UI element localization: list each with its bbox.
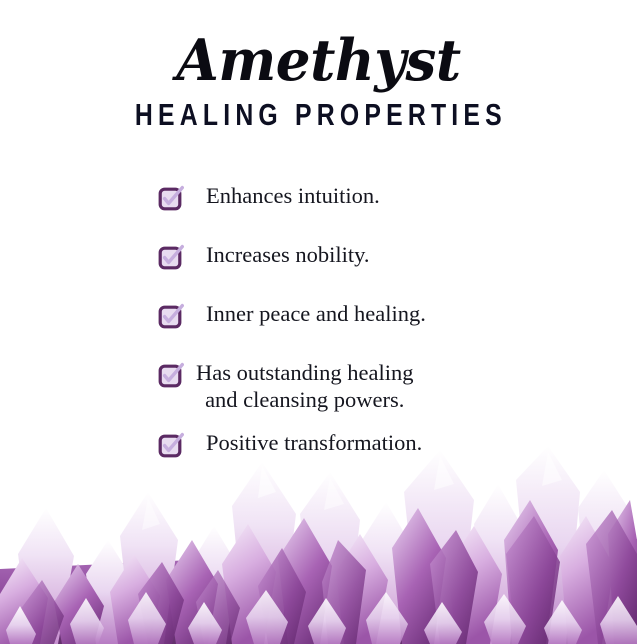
amethyst-crystal-cluster bbox=[0, 444, 637, 644]
list-item-label: Inner peace and healing. bbox=[206, 300, 426, 327]
checkbox-checked-icon bbox=[158, 185, 184, 211]
list-item-label: Enhances intuition. bbox=[206, 182, 380, 209]
list-item: Has outstanding healing and cleansing po… bbox=[158, 359, 578, 413]
checkbox-checked-icon bbox=[158, 362, 184, 388]
list-item: Inner peace and healing. bbox=[158, 300, 578, 329]
checkbox-checked-icon bbox=[158, 303, 184, 329]
header: Amethyst HEALING PROPERTIES bbox=[0, 0, 637, 132]
checkbox-checked-icon bbox=[158, 244, 184, 270]
list-item: Enhances intuition. bbox=[158, 182, 578, 211]
poster-canvas: Amethyst HEALING PROPERTIES Enhances int… bbox=[0, 0, 637, 644]
list-item-label: Has outstanding healing and cleansing po… bbox=[196, 359, 413, 413]
page-subtitle: HEALING PROPERTIES bbox=[64, 98, 574, 132]
healing-properties-list: Enhances intuition. Increases nobility. … bbox=[158, 182, 578, 458]
list-item-label: Increases nobility. bbox=[206, 241, 370, 268]
list-item: Increases nobility. bbox=[158, 241, 578, 270]
page-title: Amethyst bbox=[13, 30, 625, 92]
